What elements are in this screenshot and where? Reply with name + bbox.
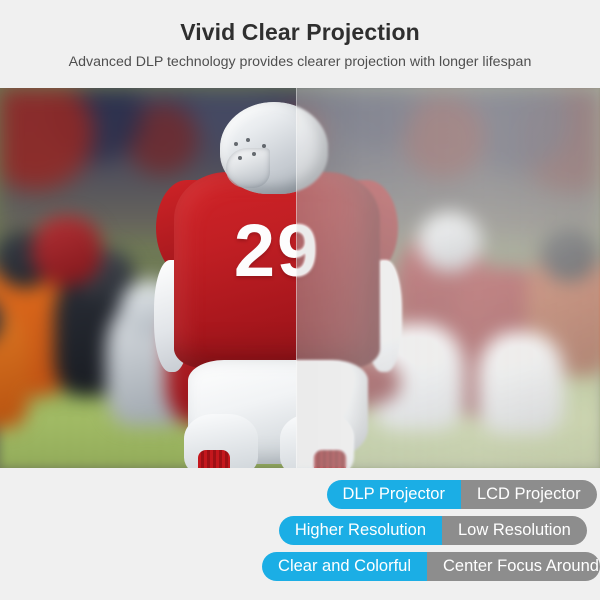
- comparison-pill: Higher Resolution Low Resolution: [279, 516, 587, 545]
- football-scene: 29: [0, 88, 600, 468]
- header-banner: Vivid Clear Projection Advanced DLP tech…: [0, 0, 600, 88]
- lcd-feature-label: Low Resolution: [442, 516, 587, 545]
- lcd-feature-label: Center Focus Around Blur: [427, 552, 600, 581]
- player-sock-right: [314, 450, 346, 468]
- center-player: 29: [168, 92, 386, 468]
- comparison-row: Higher Resolution Low Resolution: [0, 516, 600, 545]
- dlp-feature-label: Clear and Colorful: [262, 552, 427, 581]
- comparison-row: DLP Projector LCD Projector: [0, 480, 600, 509]
- comparison-photo: 29: [0, 88, 600, 468]
- comparison-pill: DLP Projector LCD Projector: [327, 480, 597, 509]
- helmet-vent-dots-icon: [232, 138, 272, 168]
- page-title: Vivid Clear Projection: [180, 18, 420, 47]
- dlp-feature-label: DLP Projector: [327, 480, 461, 509]
- jersey-number: 29: [168, 214, 386, 288]
- lcd-feature-label: LCD Projector: [461, 480, 597, 509]
- player-sock-left: [198, 450, 230, 468]
- comparison-legend: DLP Projector LCD Projector Higher Resol…: [0, 468, 600, 600]
- dlp-feature-label: Higher Resolution: [279, 516, 442, 545]
- comparison-pill: Clear and Colorful Center Focus Around B…: [262, 552, 600, 581]
- comparison-row: Clear and Colorful Center Focus Around B…: [0, 552, 600, 581]
- page-subtitle: Advanced DLP technology provides clearer…: [69, 54, 532, 71]
